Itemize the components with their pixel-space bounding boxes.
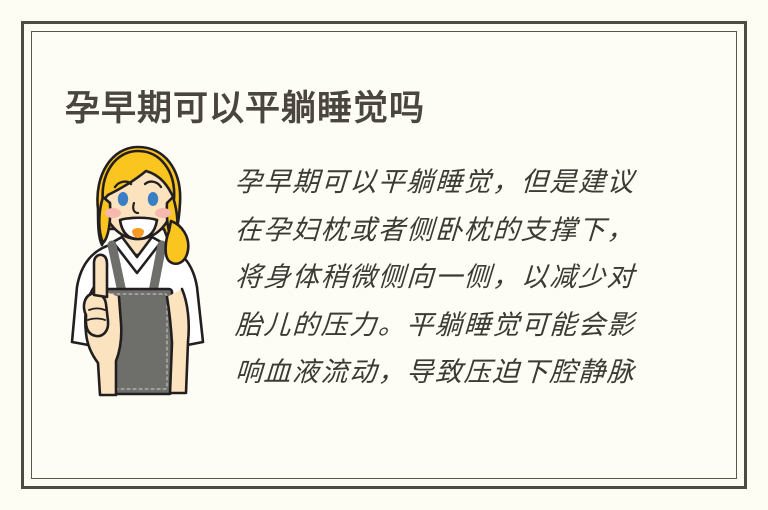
body-line: 在孕妇枕或者侧卧枕的支撑下， [234, 207, 666, 255]
content-card: 孕早期可以平躺睡觉吗 [21, 21, 747, 489]
content-row: 孕早期可以平躺睡觉，但是建议 在孕妇枕或者侧卧枕的支撑下， 将身体稍微侧向一侧，… [24, 137, 744, 437]
body-line: 响血液流动，导致压迫下腔静脉 [234, 349, 666, 397]
article-body: 孕早期可以平躺睡觉，但是建议 在孕妇枕或者侧卧枕的支撑下， 将身体稍微侧向一侧，… [235, 159, 665, 397]
body-line: 孕早期可以平躺睡觉，但是建议 [234, 159, 666, 207]
body-line: 胎儿的压力。平躺睡觉可能会影 [234, 302, 666, 350]
body-line: 将身体稍微侧向一侧，以减少对 [234, 254, 666, 302]
page-title: 孕早期可以平躺睡觉吗 [65, 87, 425, 131]
smiling-woman-pointing-up-illustration [64, 137, 209, 407]
